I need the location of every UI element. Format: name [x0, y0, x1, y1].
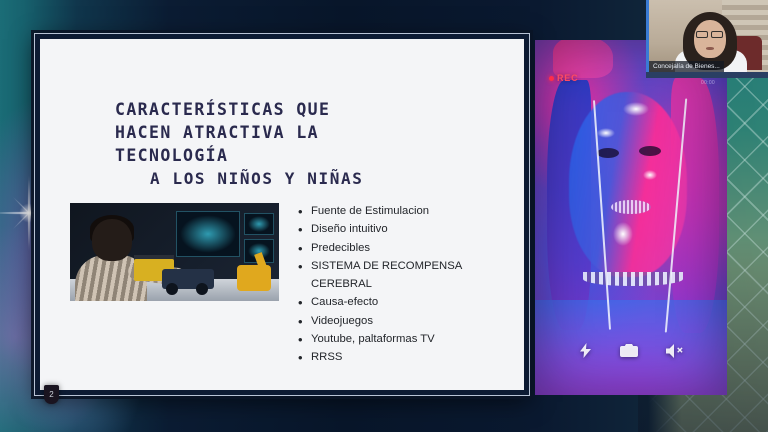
presentation-slide: CARACTERÍSTICAS QUE HACEN ATRACTIVA LA T…	[40, 39, 524, 390]
slide-title-line-3: TECNOLOGÍA	[115, 145, 445, 168]
presentation-slide-frame[interactable]: CARACTERÍSTICAS QUE HACEN ATRACTIVA LA T…	[34, 33, 530, 396]
rec-label: REC	[557, 73, 578, 83]
participant-name-label: Concejalía de Bienes...	[649, 61, 724, 72]
flash-icon[interactable]	[579, 343, 592, 363]
glasses-lens-left-icon	[696, 31, 708, 38]
slide-page-number-badge[interactable]: 2	[44, 385, 59, 404]
webcam-mouth	[706, 47, 714, 50]
video-timer-sub: 00:00	[701, 81, 715, 87]
list-item: SISTEMA DE RECOMPENSA CEREBRAL	[298, 257, 513, 294]
mute-speaker-icon[interactable]	[666, 344, 684, 363]
list-item: RRSS	[298, 348, 513, 366]
robot-car-wheel-right	[196, 283, 208, 295]
slide-subtitle: A LOS NIÑOS Y NIÑAS	[150, 169, 363, 188]
slide-title-line-1: CARACTERÍSTICAS QUE	[115, 99, 445, 122]
participant-webcam-tile[interactable]: Concejalía de Bienes...	[646, 0, 768, 72]
camera-icon[interactable]	[620, 343, 638, 363]
monitor-glow-top-right	[248, 216, 270, 232]
shared-video-panel[interactable]: REC 0:0 00:00	[535, 40, 727, 395]
glasses-lens-right-icon	[711, 31, 723, 38]
slide-photo-boy-at-computer	[70, 203, 279, 301]
video-controls-bar	[535, 343, 727, 363]
slide-title-line-2: HACEN ATRACTIVA LA	[115, 122, 445, 145]
slide-bullet-list: Fuente de Estimulacion Diseño intuitivo …	[298, 202, 513, 367]
list-item: Fuente de Estimulacion	[298, 202, 513, 220]
list-item: Youtube, paltaformas TV	[298, 330, 513, 348]
video-vignette	[535, 40, 727, 395]
list-item: Diseño intuitivo	[298, 220, 513, 238]
recording-indicator: REC	[549, 73, 578, 83]
record-dot-icon	[549, 76, 554, 81]
list-item: Videojuegos	[298, 312, 513, 330]
list-item: Predecibles	[298, 239, 513, 257]
boy-head	[92, 219, 132, 261]
monitor-glow-main	[180, 215, 236, 253]
slide-title: CARACTERÍSTICAS QUE HACEN ATRACTIVA LA T…	[115, 99, 445, 167]
webcam-tile-bottom-strip	[646, 72, 768, 78]
webcam-face	[694, 20, 726, 58]
robot-car-wheel-left	[166, 283, 178, 295]
list-item: Causa-efecto	[298, 293, 513, 311]
